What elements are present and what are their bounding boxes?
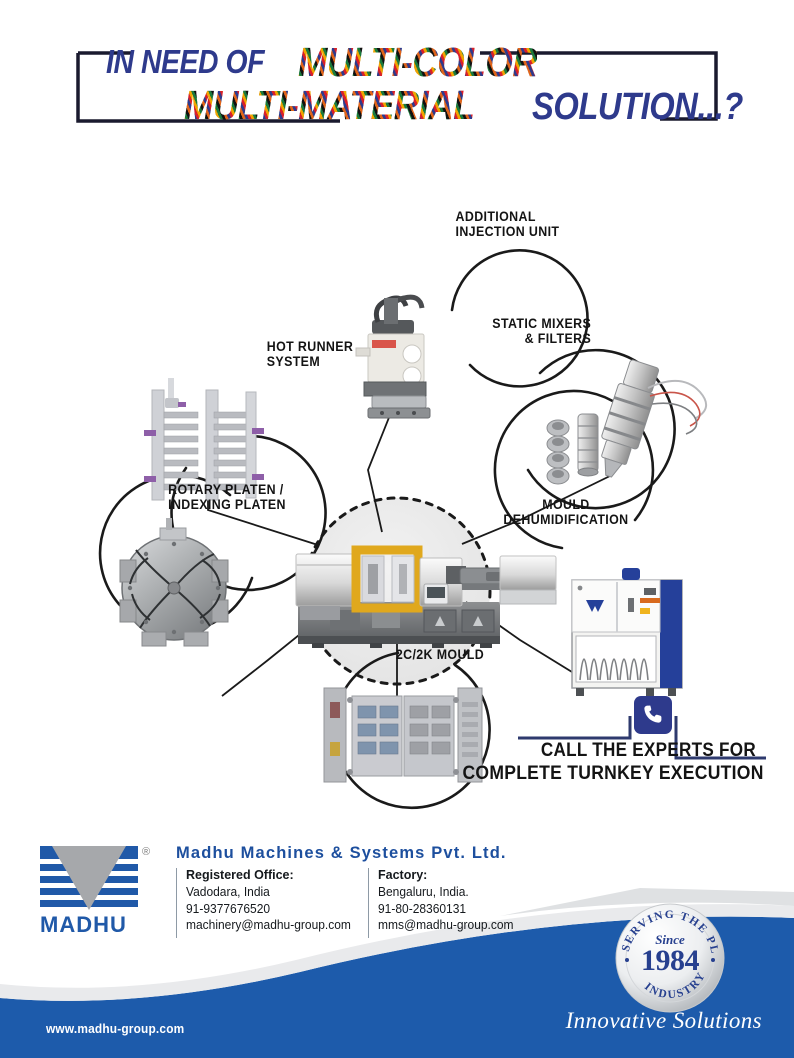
madhu-logo-mark: MADHU [38,844,150,936]
additional-injection-unit-photo [356,297,430,418]
tagline: Innovative Solutions [566,1008,762,1034]
label-rotary-indexing-platen: ROTARY PLATEN / INDEXING PLATEN [168,483,286,512]
static-mixers-filters-photo [547,358,706,484]
label-hot-runner-system: HOT RUNNER SYSTEM [267,340,353,369]
factory-city: Bengaluru, India. [378,884,514,901]
headline-line1-multicolor: MULTI-COLOR [298,39,537,86]
svg-text:MADHU: MADHU [40,912,127,936]
mould-dehumidification-photo [572,568,682,696]
label-additional-injection-unit: ADDITIONAL INJECTION UNIT [456,210,560,239]
registered-office-block: Registered Office: Vadodara, India 91-93… [186,868,358,934]
factory-phone[interactable]: 91-80-28360131 [378,901,514,918]
factory-email[interactable]: mms@madhu-group.com [378,917,514,934]
injection-moulding-machine-photo [296,550,556,648]
call-to-action[interactable]: CALL THE EXPERTS FOR COMPLETE TURNKEY EX… [498,692,768,800]
label-two-c-two-k-mould: 2C/2K MOULD [396,648,484,663]
label-mould-dehumidification: MOULD DEHUMIDIFICATION [503,498,628,527]
registered-mark: ® [142,846,150,858]
address-divider-1 [176,868,177,938]
madhu-logo: MADHU ® [38,844,150,936]
poster-page: IN NEED OFMULTI-COLOR MULTI-MATERIALSOLU… [0,0,794,1058]
cta-line-2: COMPLETE TURNKEY EXECUTION [463,762,764,785]
company-name: Madhu Machines & Systems Pvt. Ltd. [176,844,507,863]
registered-office-phone[interactable]: 91-9377676520 [186,901,351,918]
headline-line-1: IN NEED OFMULTI-COLOR [106,36,576,83]
headline-line1-plain: IN NEED OF [106,43,264,81]
rotary-indexing-platen-photo [120,518,228,646]
website-url[interactable]: www.madhu-group.com [46,1022,184,1036]
registered-office-email[interactable]: machinery@madhu-group.com [186,917,351,934]
seal-year: 1984 [614,944,726,978]
registered-office-city: Vadodara, India [186,884,351,901]
two-c-two-k-mould-photo [324,688,482,782]
address-divider-2 [368,868,369,938]
anniversary-seal: SERVING THE PLASTICS INDUSTRY Since 1984 [614,902,726,1014]
headline-line-2: MULTI-MATERIALSOLUTION...? [184,82,777,129]
headline-line2-multicolor: MULTI-MATERIAL [184,82,474,129]
phone-icon-bg [634,696,672,734]
registered-office-heading: Registered Office: [186,868,358,882]
cta-line-1: CALL THE EXPERTS FOR [541,740,756,762]
headline-line2-plain: SOLUTION...? [532,86,743,129]
footer: MADHU ® Madhu Machines & Systems Pvt. Lt… [0,830,794,1058]
factory-block: Factory: Bengaluru, India. 91-80-2836013… [378,868,519,934]
factory-heading: Factory: [378,868,519,882]
label-static-mixers-filters: STATIC MIXERS & FILTERS [492,317,591,346]
headline-block: IN NEED OFMULTI-COLOR MULTI-MATERIALSOLU… [0,18,794,138]
